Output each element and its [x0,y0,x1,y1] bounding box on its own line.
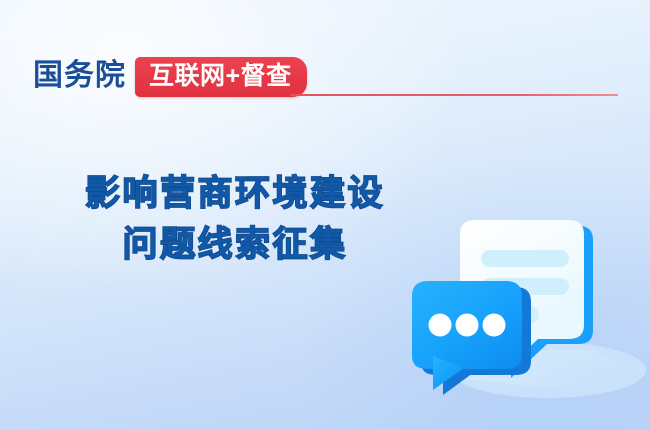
promo-banner: 国务院 互联网+督查 影响营商环境建设 问题线索征集 [0,0,650,430]
program-badge: 互联网+督查 [135,57,307,97]
speech-bubbles-illustration [398,198,650,430]
organization-name: 国务院 [33,61,126,93]
header-divider-rule [290,94,618,96]
brand-lockup: 国务院 互联网+督查 [33,55,307,99]
text-bar [481,250,569,267]
program-badge-label: 互联网+督查 [149,64,292,90]
dot [483,314,506,337]
dot [429,314,452,337]
dot [456,314,479,337]
